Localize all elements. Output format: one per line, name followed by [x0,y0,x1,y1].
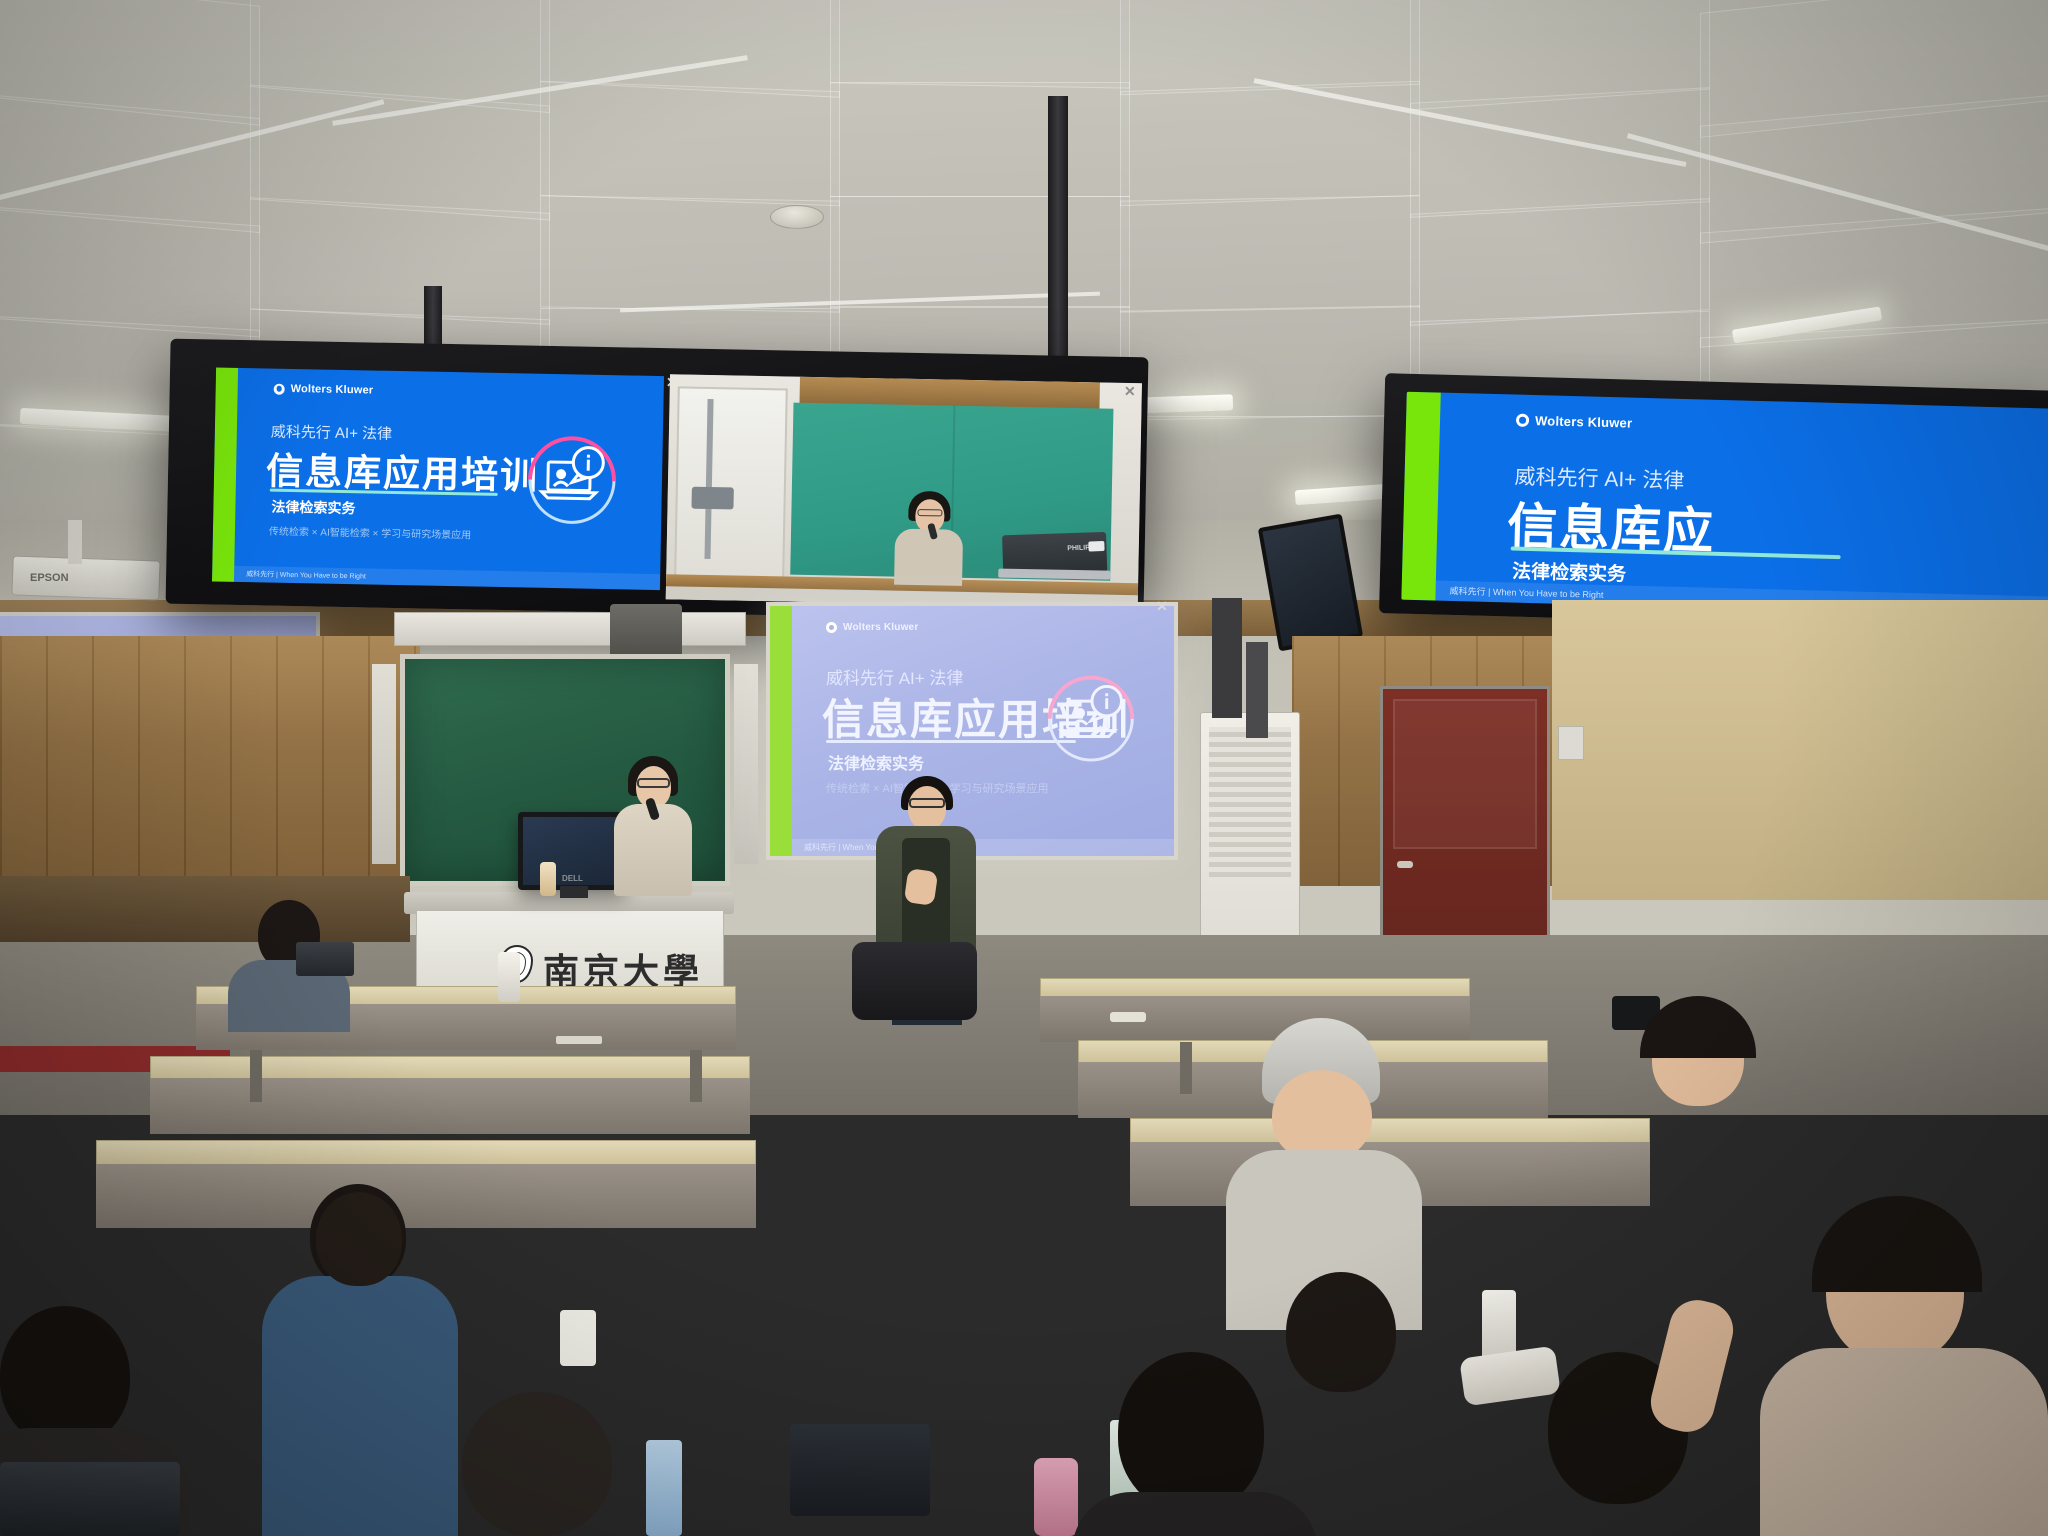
projection-subtitle: 法律检索实务 [828,750,924,774]
wolters-kluwer-dot-icon [826,622,837,633]
hanging-display-panel: Wolters Kluwer 威科先行 AI+ 法律 信息库应用培训 法律检索实… [166,339,1149,623]
presenter-glasses [637,778,670,788]
wolters-kluwer-dot-icon [274,383,285,394]
screen-housing [394,612,746,646]
audience-head-2 [316,1192,402,1286]
water-bottle-4 [646,1440,682,1536]
audience-arm-7 [1645,1294,1739,1438]
audience-desk-row3-left-front [96,1164,756,1228]
audience-body-4 [1072,1492,1318,1536]
projector-mount [68,520,82,564]
wall-base-left [0,876,410,942]
audience-hair-7 [1812,1196,1982,1292]
wall-sign [1558,726,1584,760]
audience-laptop-3[interactable] [0,1462,180,1536]
audience-laptop-1[interactable] [296,942,354,976]
stage-item [556,1036,602,1044]
board-side-rail-left [372,664,396,864]
projector-brand-label: EPSON [30,572,69,584]
display-support-rod-right [1048,96,1068,386]
audience-head-4 [1118,1352,1264,1512]
backpack [852,942,977,1020]
slide-subtitle: 法律检索实务 [271,497,355,519]
audience-head-3 [0,1306,130,1446]
audience-body-1 [262,1276,458,1536]
projection-wk-logo: Wolters Kluwer [826,622,918,633]
speaker-hands [904,868,938,906]
projection-training-emblem-icon [1036,654,1146,764]
right-display-slide: Wolters Kluwer 威科先行 AI+ 法律 信息库应 法律检索实务 威… [1401,392,2048,617]
wall-speaker-right-2 [1246,642,1268,738]
thermos-pink [1034,1458,1078,1536]
podium-monitor: DELL [518,812,626,890]
wolters-kluwer-logo: Wolters Kluwer [274,383,374,397]
video-presenter-body [894,529,963,586]
ceiling-speaker [770,205,824,229]
wall-wood-panel-left [0,636,420,876]
stage-item-2 [1110,1012,1146,1022]
wall-speaker-right [1212,598,1242,718]
curtain-wall [1552,600,2048,900]
gloves-on-desk [1459,1346,1561,1407]
right-hanging-display: Wolters Kluwer 威科先行 AI+ 法律 信息库应 法律检索实务 威… [1379,373,2048,631]
audience-desk-row1-right-front [1040,996,1470,1042]
main-projection-screen: Wolters Kluwer 威科先行 AI+ 法律 信息库应用培训 法律检索实… [766,602,1178,860]
audience-desk-row2-left-front [150,1078,750,1134]
desk-cup [560,1310,596,1366]
right-wk-logo: Wolters Kluwer [1516,413,1633,431]
board-side-rail-right [734,664,758,864]
live-video-feed: PHILIPS [666,374,1142,608]
video-close-icon[interactable]: ✕ [1122,383,1138,400]
monitor-stand [560,886,588,898]
audience-laptop-2[interactable] [790,1424,930,1516]
audience-head-9 [1286,1272,1396,1392]
audience-head-10 [462,1392,612,1536]
video-presenter-glasses [917,509,942,516]
training-emblem-icon [515,413,629,527]
water-bottle-1 [498,952,520,1002]
desk-bottle [540,862,556,896]
speaker-head [908,786,946,830]
hanging-display-slide: Wolters Kluwer 威科先行 AI+ 法律 信息库应用培训 法律检索实… [212,368,664,591]
audience-body-7 [1760,1348,2048,1536]
audience-head-6 [1272,1070,1372,1162]
projection-close-icon[interactable]: ✕ [1154,598,1170,615]
wolters-kluwer-dot-icon [1516,414,1529,427]
lecture-hall-photo: EPSON 先行 AI+法律 息库应用培训 索实务 × AI智能检索 × 学习与… [0,0,2048,1536]
slide-small-line: 传统检索 × AI智能检索 × 学习与研究场景应用 [269,523,472,542]
speaker-glasses [909,798,945,808]
